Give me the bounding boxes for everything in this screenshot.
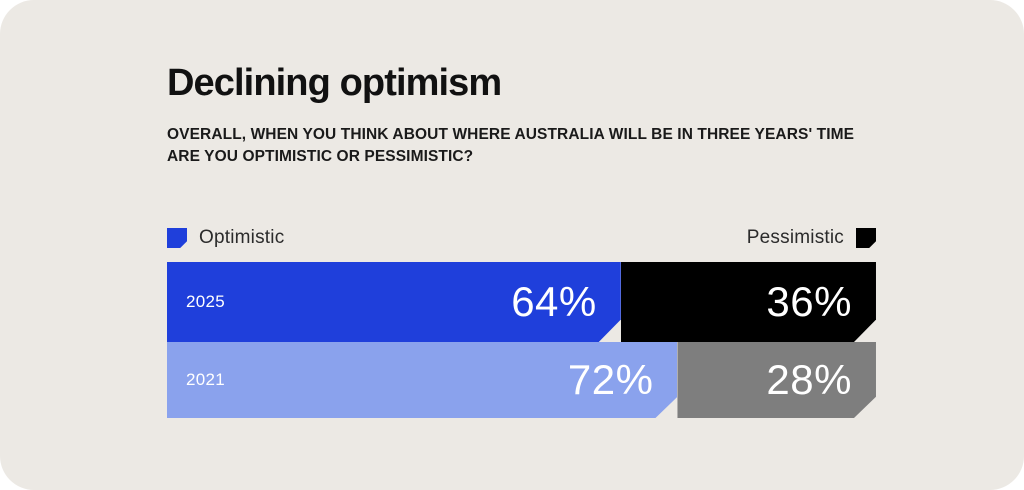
bar-value-pessimistic: 28% (766, 359, 852, 401)
bar-value-optimistic: 72% (568, 359, 654, 401)
legend-item-pessimistic: Pessimistic (747, 222, 876, 254)
chart-card: Declining optimism OVERALL, WHEN YOU THI… (0, 0, 1024, 490)
bar-row: 2025 64% 36% (167, 262, 876, 342)
bar-value-pessimistic: 36% (766, 281, 852, 323)
bar-row: 2021 72% 28% (167, 342, 876, 418)
stacked-bar-chart: 2025 64% 36% 2021 72% 28% (167, 262, 876, 418)
page-title: Declining optimism (167, 62, 501, 105)
legend-swatch-pessimistic-icon (856, 228, 876, 248)
chart-subtitle: OVERALL, WHEN YOU THINK ABOUT WHERE AUST… (167, 124, 857, 168)
legend-label-pessimistic: Pessimistic (747, 227, 844, 249)
legend-swatch-optimistic-icon (167, 228, 187, 248)
chart-legend: Optimistic Pessimistic (167, 222, 876, 254)
bar-segment-pessimistic: 36% (621, 262, 876, 342)
legend-item-optimistic: Optimistic (167, 222, 284, 254)
legend-label-optimistic: Optimistic (199, 227, 284, 249)
bar-row-year-label: 2021 (186, 370, 225, 390)
bar-value-optimistic: 64% (511, 281, 597, 323)
bar-row-year-label: 2025 (186, 292, 225, 312)
bar-segment-pessimistic: 28% (677, 342, 876, 418)
bar-segment-optimistic: 2025 64% (167, 262, 621, 342)
bar-segment-optimistic: 2021 72% (167, 342, 677, 418)
